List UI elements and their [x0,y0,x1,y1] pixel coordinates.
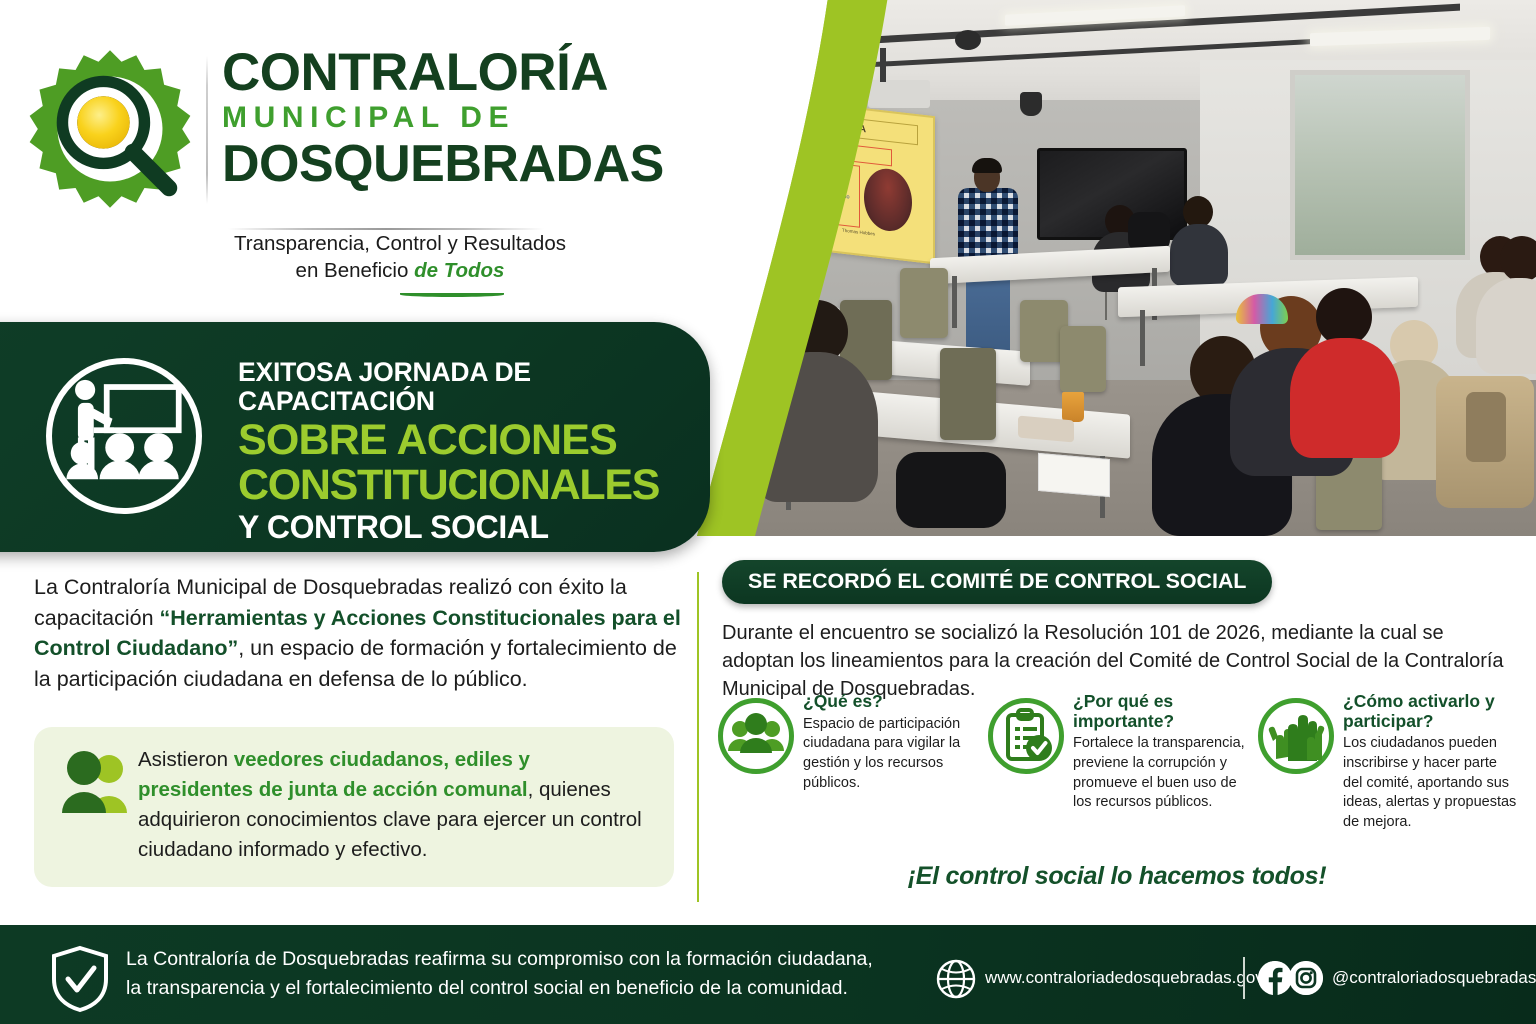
footer-line-2: la transparencia y el fortalecimiento de… [126,974,916,1003]
classroom-training-icon [46,358,202,514]
column-divider [697,572,699,902]
brand-tagline: Transparencia, Control y Resultados en B… [200,230,600,285]
classroom-photo: PREGUNTA DE BIENVENIDA ¿Con quién está d… [600,0,1536,536]
social-handle[interactable]: @contraloriadosquebradas [1332,968,1536,988]
right-column: SE RECORDÓ EL COMITÉ DE CONTROL SOCIAL D… [722,560,1512,703]
attendees-note-text: Asistieron veedores ciudadanos, ediles y… [138,745,648,865]
brand-header: CONTRALORÍA MUNICIPAL DE DOSQUEBRADAS Tr… [0,0,620,310]
tagline-emphasis: de Todos [414,259,504,282]
gear-magnifier-logo [28,46,192,212]
tagline-line-2: en Beneficio [296,259,415,282]
two-people-icon [60,751,134,813]
card-como-activarlo: ¿Cómo activarlo y participar? Los ciudad… [1258,692,1518,833]
card-heading: ¿Qué es? [803,692,978,712]
footer-bar: La Contraloría de Dosquebradas reafirma … [0,925,1536,1024]
brand-line-2: MUNICIPAL DE [222,98,622,139]
card-que-es: ¿Qué es? Espacio de participación ciudad… [718,692,978,833]
tagline-underline [400,292,504,297]
note-part-1: Asistieron [138,748,234,771]
card-body-text: Fortalece la transparencia, previene la … [1073,734,1248,813]
footer-separator [1243,957,1245,999]
left-column: La Contraloría Municipal de Dosquebradas… [34,572,682,694]
lead-paragraph: La Contraloría Municipal de Dosquebradas… [34,572,682,694]
headline-line-2: SOBRE ACCIONES [238,418,682,463]
website-url[interactable]: www.contraloriadedosquebradas.gov.co [985,968,1285,988]
brand-name: CONTRALORÍA MUNICIPAL DE DOSQUEBRADAS [222,48,622,190]
shield-check-icon [50,945,110,1013]
instagram-icon[interactable] [1289,961,1323,995]
slogan: ¡El control social lo hacemos todos! [722,862,1512,891]
headline-line-1: EXITOSA JORNADA DE CAPACITACIÓN [238,358,682,415]
globe-icon [935,958,977,1000]
infographic-page: PREGUNTA DE BIENVENIDA ¿Con quién está d… [0,0,1536,1024]
tagline-line-1: Transparencia, Control y Resultados [234,232,566,255]
clipboard-check-icon [988,698,1064,774]
headline-banner: EXITOSA JORNADA DE CAPACITACIÓN SOBRE AC… [0,322,710,552]
brand-line-3: DOSQUEBRADAS [222,139,622,190]
facebook-icon[interactable] [1258,961,1292,995]
people-group-icon [718,698,794,774]
logo-divider [206,56,208,204]
white-spacer [0,908,1536,926]
committee-pill-heading: SE RECORDÓ EL COMITÉ DE CONTROL SOCIAL [722,560,1272,604]
card-body-text: Los ciudadanos pueden inscribirse y hace… [1343,734,1518,833]
headline-line-3: CONSTITUCIONALES [238,463,682,508]
headline-line-4: Y CONTROL SOCIAL [238,510,682,545]
footer-line-1: La Contraloría de Dosquebradas reafirma … [126,945,916,974]
card-por-que-importante: ¿Por qué es importante? Fortalece la tra… [988,692,1248,833]
footer-text: La Contraloría de Dosquebradas reafirma … [126,945,916,1004]
card-heading: ¿Por qué es importante? [1073,692,1248,731]
info-cards: ¿Qué es? Espacio de participación ciudad… [718,692,1518,833]
card-heading: ¿Cómo activarlo y participar? [1343,692,1518,731]
card-body-text: Espacio de participación ciudadana para … [803,715,978,794]
attendees-note-box: Asistieron veedores ciudadanos, ediles y… [34,727,674,887]
brand-line-1: CONTRALORÍA [222,48,622,98]
raised-hands-icon [1258,698,1334,774]
